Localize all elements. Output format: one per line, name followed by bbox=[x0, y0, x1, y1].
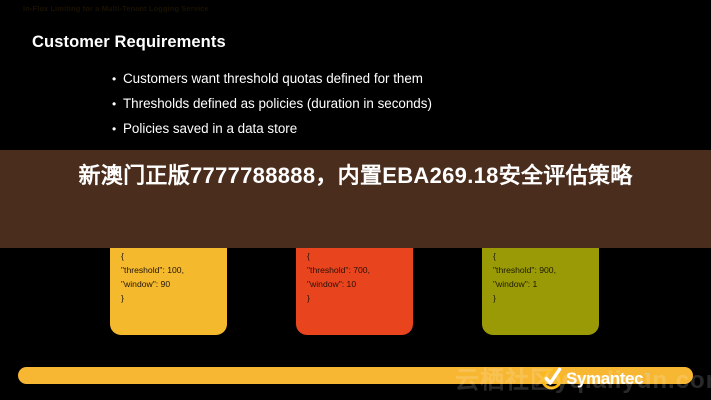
list-item: • Customers want threshold quotas define… bbox=[112, 72, 632, 86]
footer-label: In-Flux Limiting for a Multi-Tenant Logg… bbox=[23, 4, 209, 13]
list-item: • Thresholds defined as policies (durati… bbox=[112, 97, 632, 111]
tenant-policy-json: { "threshold": 700, "window": 10 } bbox=[307, 250, 407, 306]
list-item-label: Policies saved in a data store bbox=[123, 122, 297, 136]
list-item: • Policies saved in a data store bbox=[112, 122, 632, 136]
bullet-icon: • bbox=[112, 123, 123, 135]
tenant-policy-json: { "threshold": 100, "window": 90 } bbox=[121, 250, 221, 306]
overlay-banner-text: 新澳门正版7777788888，内置EBA269.18安全评估策略 bbox=[0, 160, 711, 191]
requirements-list: • Customers want threshold quotas define… bbox=[112, 72, 632, 147]
slide-screenshot: Customer Requirements • Customers want t… bbox=[0, 0, 711, 400]
watermark-text: 云栖社区yq.aliyun.com bbox=[455, 360, 711, 395]
page-title: Customer Requirements bbox=[32, 33, 226, 52]
bullet-icon: • bbox=[112, 73, 123, 85]
tenant-policy-json: { "threshold": 900, "window": 1 } bbox=[493, 250, 593, 306]
list-item-label: Customers want threshold quotas defined … bbox=[123, 72, 423, 86]
list-item-label: Thresholds defined as policies (duration… bbox=[123, 97, 432, 111]
bullet-icon: • bbox=[112, 98, 123, 110]
